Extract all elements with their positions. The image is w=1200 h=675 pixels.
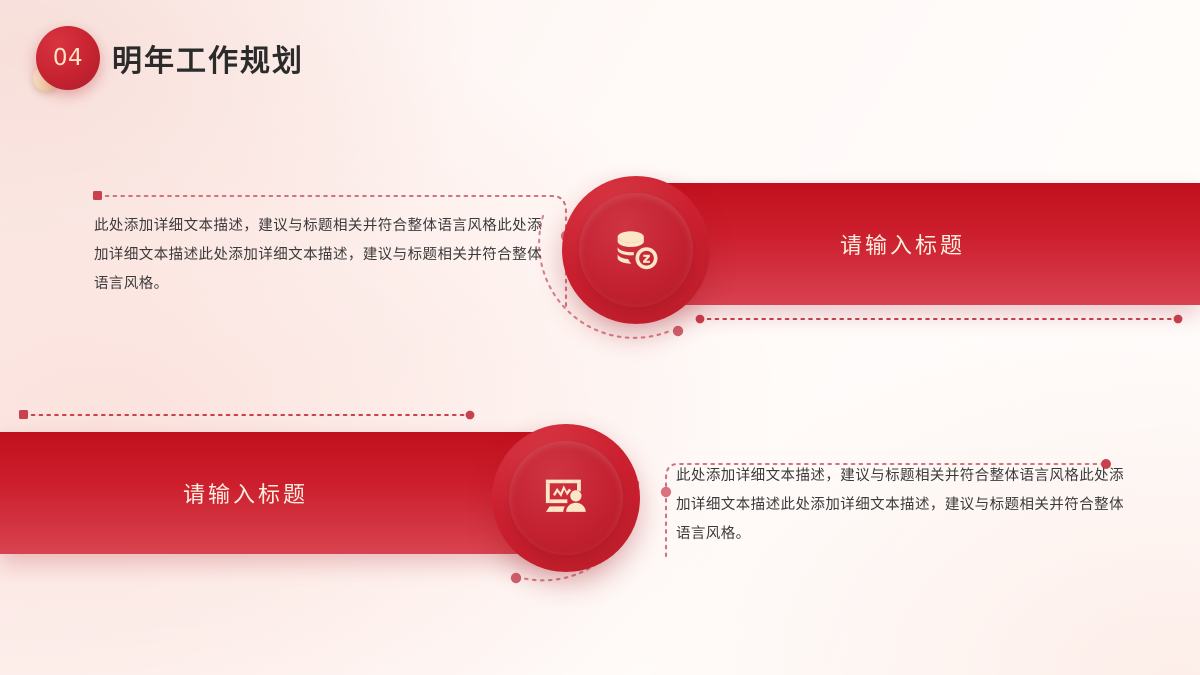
- section-two-body: 此处添加详细文本描述，建议与标题相关并符合整体语言风格此处添加详细文本描述此处添…: [676, 462, 1124, 549]
- coins-icon: [608, 222, 664, 278]
- medallion-inner-disc: [579, 193, 693, 307]
- section-number-badge: 04: [36, 26, 100, 90]
- slide: 04 明年工作规划 请输入标题 此处添加详细文本描述，建议与标题相关并符合整体语…: [0, 0, 1200, 675]
- section-number: 04: [53, 45, 83, 71]
- section-one-textblock: 此处添加详细文本描述，建议与标题相关并符合整体语言风格此处添加详细文本描述此处添…: [94, 212, 542, 299]
- section-two-icon-medallion[interactable]: [492, 424, 640, 572]
- section-two-textblock: 此处添加详细文本描述，建议与标题相关并符合整体语言风格此处添加详细文本描述此处添…: [676, 462, 1124, 549]
- section-one-body: 此处添加详细文本描述，建议与标题相关并符合整体语言风格此处添加详细文本描述此处添…: [94, 212, 542, 299]
- page-title: 明年工作规划: [112, 36, 304, 80]
- presentation-chart-person-icon: [538, 470, 594, 526]
- section-two-title: 请输入标题: [183, 477, 308, 509]
- section-one-title: 请输入标题: [840, 228, 965, 260]
- slide-header: 04 明年工作规划: [0, 0, 1200, 120]
- medallion-inner-disc: [509, 441, 623, 555]
- section-one-icon-medallion[interactable]: [562, 176, 710, 324]
